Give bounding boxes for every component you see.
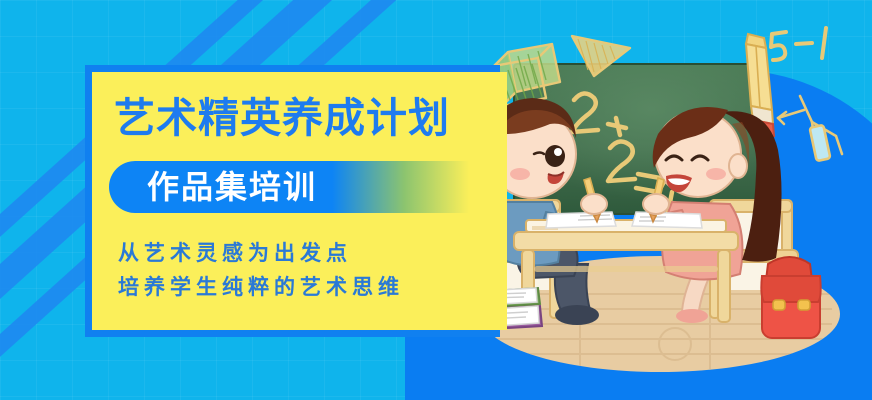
page-title: 艺术精英养成计划 bbox=[114, 98, 450, 139]
red-schoolbag bbox=[761, 257, 820, 338]
chalk-compass-drawing bbox=[778, 96, 842, 161]
badge-pill: 作品集培训 bbox=[109, 161, 469, 213]
hand-left bbox=[581, 194, 607, 214]
subtitle-line-2: 培养学生纯粹的艺术思维 bbox=[118, 271, 404, 301]
chalk-text-corner bbox=[771, 28, 826, 60]
subtitle-line-1: 从艺术灵感为出发点 bbox=[118, 237, 352, 267]
headline-card-content: 艺术精英养成计划 作品集培训 从艺术灵感为出发点 培养学生纯粹的艺术思维 bbox=[92, 72, 507, 330]
hand-right bbox=[643, 194, 669, 214]
promo-banner: 艺术精英养成计划 作品集培训 从艺术灵感为出发点 培养学生纯粹的艺术思维 bbox=[0, 0, 872, 400]
badge-pill-label: 作品集培训 bbox=[147, 167, 317, 207]
classroom-illustration bbox=[460, 14, 872, 386]
paper-sheet-right bbox=[632, 212, 702, 228]
paper-sheet-left bbox=[546, 212, 616, 228]
